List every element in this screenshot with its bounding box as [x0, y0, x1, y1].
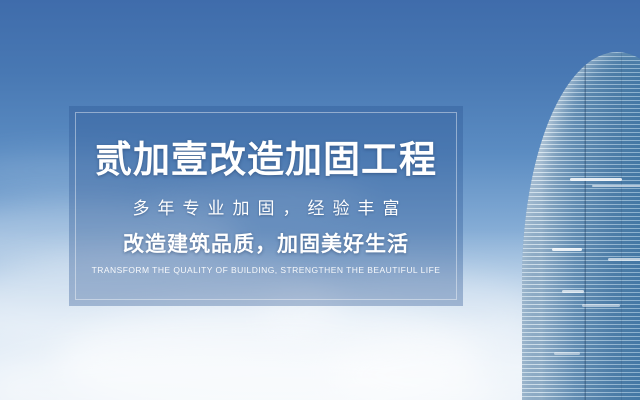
- window-glint: [552, 248, 582, 251]
- skyscraper-mullions: [522, 52, 640, 400]
- headline-title: 贰加壹改造加固工程: [95, 141, 437, 178]
- headline-english-tagline: TRANSFORM THE QUALITY OF BUILDING, STREN…: [92, 266, 441, 275]
- window-glint: [582, 304, 620, 307]
- skyscraper-image: [500, 0, 640, 400]
- headline-slogan: 改造建筑品质，加固美好生活: [123, 234, 409, 255]
- window-glint: [554, 352, 580, 355]
- hero-banner: 贰加壹改造加固工程 多年专业加固，经验丰富 改造建筑品质，加固美好生活 TRAN…: [0, 0, 640, 400]
- window-glint: [592, 185, 640, 187]
- window-glint: [608, 258, 640, 261]
- panel-content: 贰加壹改造加固工程 多年专业加固，经验丰富 改造建筑品质，加固美好生活 TRAN…: [69, 106, 463, 306]
- window-glint: [570, 178, 622, 181]
- window-glint: [562, 290, 584, 293]
- headline-panel: 贰加壹改造加固工程 多年专业加固，经验丰富 改造建筑品质，加固美好生活 TRAN…: [69, 106, 463, 306]
- skyscraper-tower: [522, 52, 640, 400]
- headline-subtitle: 多年专业加固，经验丰富: [125, 200, 408, 217]
